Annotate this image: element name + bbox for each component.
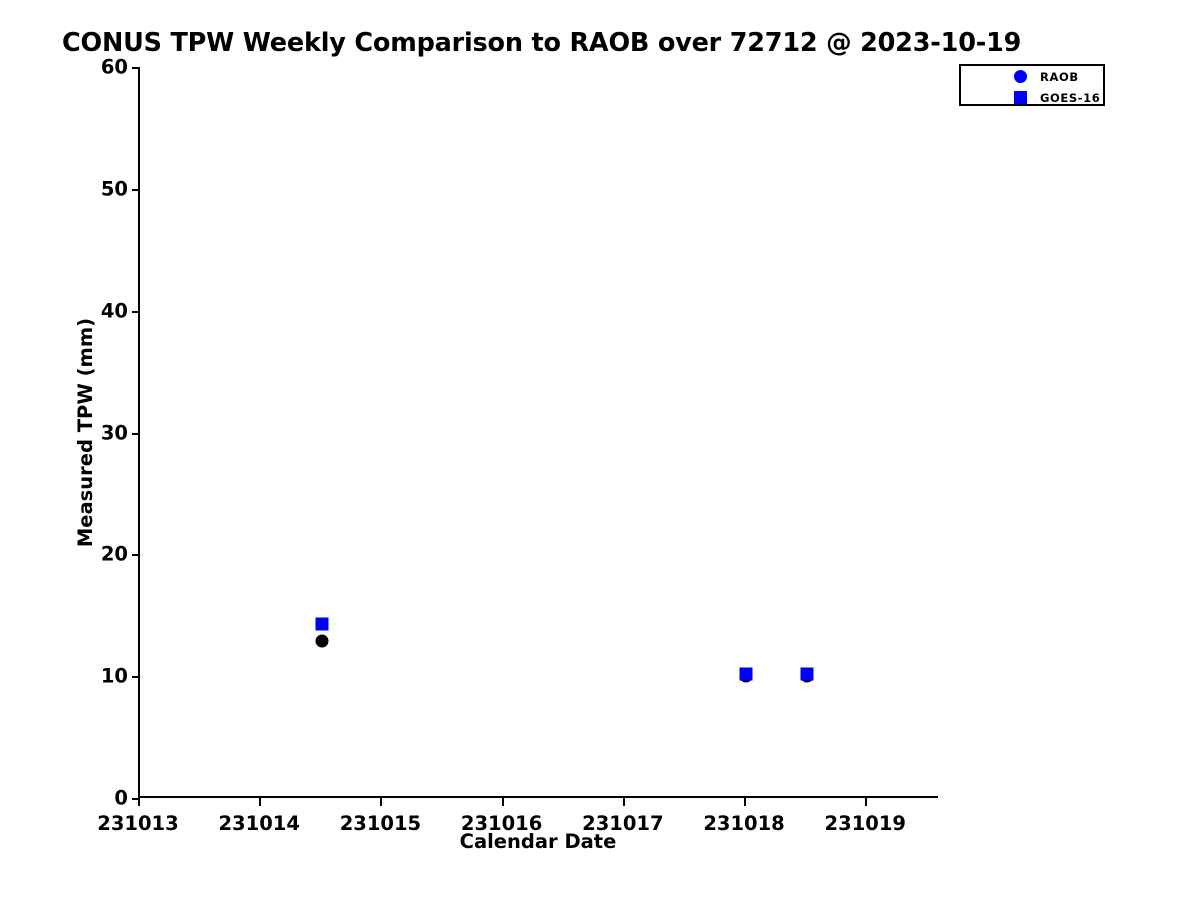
y-tick-label: 20	[101, 543, 128, 566]
x-tick-mark	[865, 798, 867, 806]
x-tick-mark	[138, 798, 140, 806]
square-marker-icon	[1014, 91, 1028, 105]
circle-marker-icon	[1014, 70, 1028, 84]
y-tick-mark	[132, 67, 140, 69]
y-tick-mark	[132, 311, 140, 313]
x-tick-mark	[259, 798, 261, 806]
data-point-goes-16	[740, 667, 753, 680]
data-point-raob	[315, 634, 328, 647]
data-point-goes-16	[315, 617, 328, 630]
y-axis-label: Measured TPW (mm)	[74, 67, 97, 798]
legend-label: GOES-16	[1040, 91, 1100, 105]
y-tick-mark	[132, 189, 140, 191]
x-tick-mark	[623, 798, 625, 806]
legend-entry[interactable]: GOES-16	[961, 87, 1103, 108]
chart-title: CONUS TPW Weekly Comparison to RAOB over…	[62, 28, 1021, 58]
chart-figure: CONUS TPW Weekly Comparison to RAOB over…	[0, 0, 1200, 900]
x-axis-label: Calendar Date	[138, 830, 938, 853]
y-tick-mark	[132, 433, 140, 435]
x-tick-mark	[380, 798, 382, 806]
y-tick-label: 50	[101, 177, 128, 200]
chart-legend: RAOBGOES-16	[959, 64, 1105, 106]
plot-area: 0102030405060	[138, 67, 938, 798]
y-tick-label: 60	[101, 56, 128, 79]
legend-label: RAOB	[1040, 70, 1079, 84]
y-tick-label: 0	[114, 787, 128, 810]
x-tick-mark	[744, 798, 746, 806]
legend-entry[interactable]: RAOB	[961, 66, 1103, 87]
y-tick-mark	[132, 676, 140, 678]
y-tick-label: 40	[101, 299, 128, 322]
y-tick-mark	[132, 554, 140, 556]
x-tick-mark	[502, 798, 504, 806]
data-point-goes-16	[800, 667, 813, 680]
y-tick-label: 10	[101, 665, 128, 688]
y-tick-label: 30	[101, 421, 128, 444]
